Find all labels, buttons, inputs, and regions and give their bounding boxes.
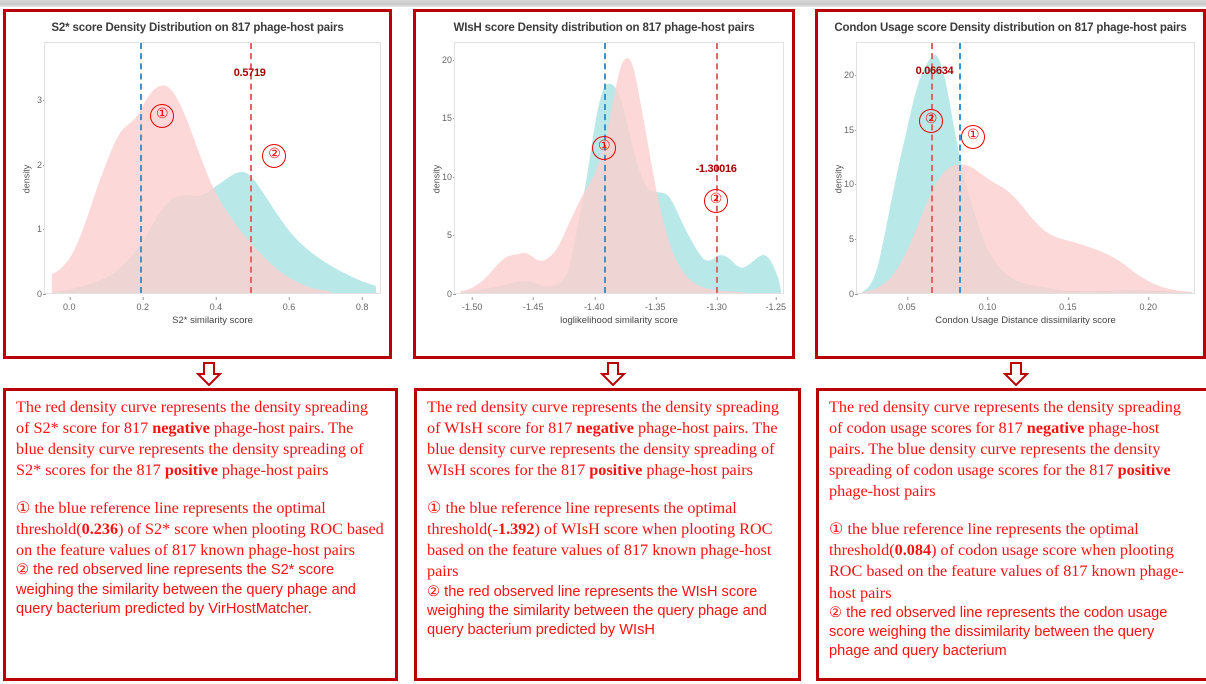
explanation-note-one: ① the blue reference line represents the… — [16, 498, 385, 561]
x-tick: 0.20 — [1139, 302, 1157, 312]
y-tick: 0 — [822, 289, 854, 299]
marker-two: ② — [704, 189, 728, 213]
spacer — [829, 502, 1196, 519]
spacer — [16, 481, 385, 498]
x-tick: -1.45 — [523, 302, 544, 312]
y-tick: 0 — [420, 289, 452, 299]
x-tick: 0.10 — [979, 302, 997, 312]
x-axis-label: loglikelihood similarity score — [454, 315, 784, 326]
x-tick: 0.2 — [136, 302, 149, 312]
explanation-note-two: ② the red observed line represents the W… — [427, 583, 788, 641]
density-curves-svg — [45, 43, 380, 293]
plot-area: -1.30016 ① ② — [454, 42, 784, 294]
optimal-threshold-line — [604, 43, 606, 293]
explanation-panel-s2: The red density curve represents the den… — [3, 388, 398, 681]
y-tick: 20 — [822, 70, 854, 80]
plot-wrapper: density 0 1 2 3 0.5719 ① ② 0. — [10, 38, 381, 320]
intro-part-c: phage-host pairs — [829, 482, 936, 500]
x-tick: 0.8 — [356, 302, 369, 312]
note-one-threshold: 0.084 — [895, 541, 931, 559]
y-tick: 2 — [10, 160, 42, 170]
note-one-threshold: 0.236 — [82, 520, 118, 538]
chart-title: S2* score Density Distribution on 817 ph… — [10, 22, 385, 34]
plot-wrapper: density 0 5 10 15 20 -1.30016 ① ② -1.50 … — [420, 38, 784, 320]
optimal-threshold-line — [140, 43, 142, 293]
observed-value-label: -1.30016 — [696, 163, 737, 175]
x-tick: -1.25 — [765, 302, 786, 312]
intro-bold-positive: positive — [165, 461, 218, 479]
x-tick: -1.30 — [706, 302, 727, 312]
intro-bold-negative: negative — [576, 419, 634, 437]
marker-one: ① — [150, 104, 174, 128]
explanation-note-two: ② the red observed line represents the c… — [829, 604, 1196, 662]
x-tick: -1.35 — [645, 302, 666, 312]
y-tick: 3 — [10, 95, 42, 105]
y-tick: 1 — [10, 224, 42, 234]
observed-score-line — [931, 43, 933, 293]
x-tick: -1.40 — [584, 302, 605, 312]
intro-bold-negative: negative — [152, 419, 210, 437]
x-axis-label: S2* similarity score — [44, 315, 381, 326]
y-tick: 5 — [420, 230, 452, 240]
y-tick: 15 — [420, 113, 452, 123]
optimal-threshold-line — [959, 43, 961, 293]
marker-two: ② — [919, 109, 943, 133]
explanation-panel-wish: The red density curve represents the den… — [414, 388, 801, 681]
explanation-intro: The red density curve represents the den… — [16, 397, 385, 481]
intro-part-c: phage-host pairs — [218, 461, 329, 479]
marker-one: ① — [961, 125, 985, 149]
x-tick: 0.0 — [63, 302, 76, 312]
chart-panel-wish: WIsH score Density distribution on 817 p… — [413, 9, 795, 359]
x-tick: 0.15 — [1059, 302, 1077, 312]
chart-title: WIsH score Density distribution on 817 p… — [420, 22, 788, 34]
explanation-note-one: ① the blue reference line represents the… — [829, 519, 1196, 603]
intro-part-c: phage-host pairs — [642, 461, 753, 479]
down-arrow-wish — [600, 362, 626, 386]
chart-panel-s2: S2* score Density Distribution on 817 ph… — [3, 9, 392, 359]
x-axis-label: Condon Usage Distance dissimilarity scor… — [856, 315, 1195, 326]
intro-bold-positive: positive — [589, 461, 642, 479]
chart-title: Condon Usage score Density distribution … — [822, 22, 1199, 34]
y-tick: 10 — [420, 172, 452, 182]
chart-panel-codon-usage: Condon Usage score Density distribution … — [815, 9, 1206, 359]
observed-score-line — [250, 43, 252, 293]
window-top-strip — [0, 0, 1206, 7]
explanation-intro: The red density curve represents the den… — [829, 397, 1196, 502]
plot-area: 0.5719 ① ② — [44, 42, 381, 294]
explanation-note-two: ② the red observed line represents the S… — [16, 561, 385, 619]
observed-value-label: 0.06634 — [916, 65, 954, 77]
explanation-intro: The red density curve represents the den… — [427, 397, 788, 481]
y-tick: 10 — [822, 179, 854, 189]
plot-wrapper: density 0 5 10 15 20 0.06634 ② ① 0.05 0.… — [822, 38, 1195, 320]
down-arrow-s2 — [196, 362, 222, 386]
down-arrow-codon-usage — [1003, 362, 1029, 386]
explanation-panel-codon-usage: The red density curve represents the den… — [816, 388, 1206, 681]
explanation-note-one: ① the blue reference line represents the… — [427, 498, 788, 582]
y-tick: 15 — [822, 125, 854, 135]
x-tick: 0.6 — [283, 302, 296, 312]
x-tick: -1.50 — [462, 302, 483, 312]
marker-one: ① — [592, 136, 616, 160]
intro-bold-negative: negative — [1027, 419, 1085, 437]
y-tick: 5 — [822, 234, 854, 244]
intro-bold-positive: positive — [1118, 461, 1171, 479]
y-tick: 0 — [10, 289, 42, 299]
note-one-threshold: 1.392 — [498, 520, 534, 538]
y-tick: 20 — [420, 55, 452, 65]
observed-value-label: 0.5719 — [234, 67, 266, 79]
marker-two: ② — [262, 144, 286, 168]
x-tick: 0.4 — [210, 302, 223, 312]
density-curves-svg — [857, 43, 1194, 293]
spacer — [427, 481, 788, 498]
plot-area: 0.06634 ② ① — [856, 42, 1195, 294]
x-tick: 0.05 — [898, 302, 916, 312]
